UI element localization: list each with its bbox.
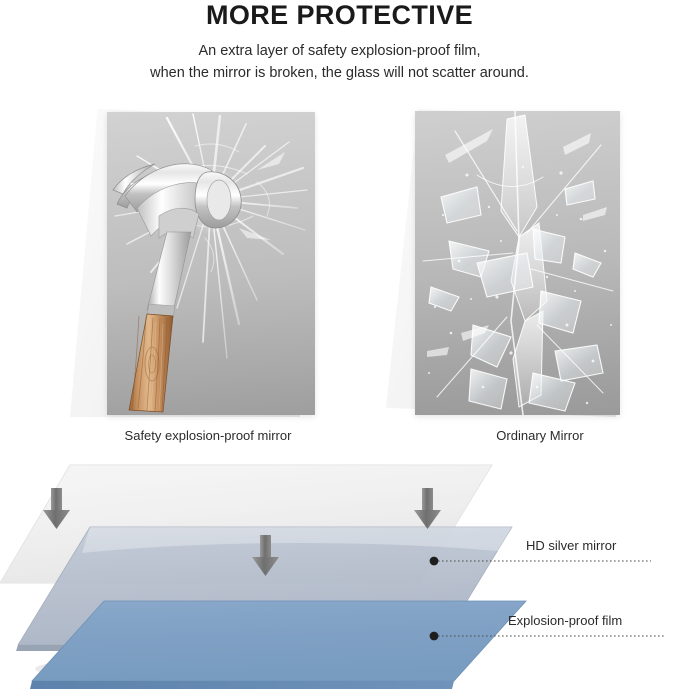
caption-safety-mirror: Safety explosion-proof mirror bbox=[58, 428, 358, 443]
safety-mirror-surface bbox=[107, 112, 315, 415]
label-explosion-proof-film: Explosion-proof film bbox=[508, 613, 622, 628]
layer-explosion-proof-film bbox=[32, 601, 526, 681]
caption-ordinary-mirror: Ordinary Mirror bbox=[390, 428, 679, 443]
panel-safety-mirror bbox=[60, 105, 350, 425]
subtitle-line-2: when the mirror is broken, the glass wil… bbox=[0, 62, 679, 84]
layer-diagram-svg bbox=[0, 455, 679, 699]
layer-diagram bbox=[0, 455, 679, 699]
shattered-glass-icon bbox=[415, 111, 620, 415]
ordinary-mirror-surface bbox=[415, 111, 620, 415]
page-subtitle: An extra layer of safety explosion-proof… bbox=[0, 40, 679, 84]
comparison-panels bbox=[0, 105, 679, 425]
label-hd-silver-mirror: HD silver mirror bbox=[526, 538, 616, 553]
page-title: MORE PROTECTIVE bbox=[0, 0, 679, 30]
subtitle-line-1: An extra layer of safety explosion-proof… bbox=[0, 40, 679, 62]
hammer-icon bbox=[107, 112, 315, 415]
panel-ordinary-mirror bbox=[380, 105, 670, 425]
infographic-page: MORE PROTECTIVE An extra layer of safety… bbox=[0, 0, 679, 699]
